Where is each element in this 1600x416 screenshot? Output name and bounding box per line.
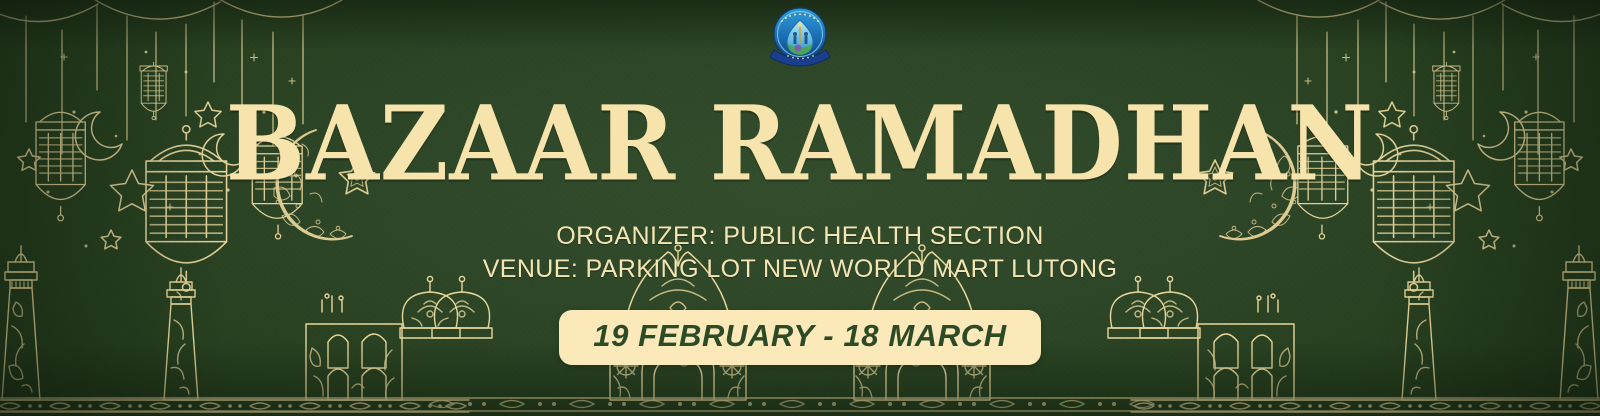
date-range-badge: 19 FEBRUARY - 18 MARCH [559, 310, 1040, 365]
event-details: ORGANIZER: PUBLIC HEALTH SECTION VENUE: … [483, 220, 1118, 286]
venue-line: VENUE: PARKING LOT NEW WORLD MART LUTONG [483, 253, 1118, 286]
banner-content: BAZAAR RAMADHAN ORGANIZER: PUBLIC HEALTH… [0, 0, 1600, 416]
council-crest-logo [764, 6, 836, 68]
page-title: BAZAAR RAMADHAN [226, 92, 1374, 195]
organizer-line: ORGANIZER: PUBLIC HEALTH SECTION [483, 220, 1118, 253]
ramadhan-bazaar-banner: BAZAAR RAMADHAN ORGANIZER: PUBLIC HEALTH… [0, 0, 1600, 416]
